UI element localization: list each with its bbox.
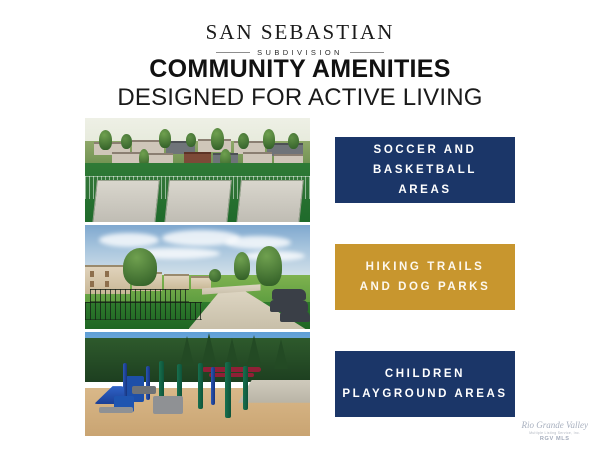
tree <box>211 128 224 150</box>
conifer-tree <box>247 335 261 365</box>
page-title: COMMUNITY AMENITIES DESIGNED FOR ACTIVE … <box>0 56 600 110</box>
amenity-label-trails: HIKING TRAILS AND DOG PARKS <box>335 244 515 310</box>
tree <box>121 134 132 149</box>
amenity-row: HIKING TRAILS AND DOG PARKS <box>85 225 515 329</box>
watermark-script-text: Rio Grande Valley <box>522 421 589 430</box>
residence <box>191 276 211 289</box>
conifer-tree <box>180 336 194 366</box>
tree <box>99 130 112 150</box>
tree <box>238 133 249 149</box>
sports-court <box>235 180 303 222</box>
tree <box>186 133 196 147</box>
amenity-label-text: HIKING TRAILS AND DOG PARKS <box>354 257 497 297</box>
amenity-label-sports: SOCCER AND BASKETBALL AREAS <box>335 137 515 203</box>
amenity-row: CHILDREN PLAYGROUND AREAS <box>85 332 515 436</box>
row-spacer <box>310 225 335 329</box>
sports-court <box>91 180 159 222</box>
aerial-subdivision-sports-courts-rendering <box>85 118 310 222</box>
brand-rule-left <box>216 52 250 53</box>
play-post <box>211 367 215 405</box>
window <box>90 281 94 287</box>
amenity-label-playground: CHILDREN PLAYGROUND AREAS <box>335 351 515 417</box>
play-post <box>243 366 248 410</box>
watermark-mls-label: RGV MLS <box>522 436 589 442</box>
play-post <box>225 362 231 418</box>
conifer-tree <box>202 333 216 363</box>
conifer-tree <box>274 339 288 369</box>
play-post <box>198 363 203 409</box>
play-post <box>146 366 150 400</box>
window <box>105 281 109 287</box>
car <box>272 289 306 300</box>
amenity-label-text: CHILDREN PLAYGROUND AREAS <box>336 364 513 404</box>
amenity-list: SOCCER AND BASKETBALL AREAS <box>85 118 515 436</box>
brand-name: SAN SEBASTIAN <box>0 22 600 43</box>
tree <box>256 246 282 286</box>
row-spacer <box>310 332 335 436</box>
amenity-row: SOCCER AND BASKETBALL AREAS <box>85 118 515 222</box>
tree <box>288 133 299 149</box>
brand-logo: SAN SEBASTIAN SUBDIVISION <box>0 22 600 57</box>
tree <box>234 252 250 280</box>
watermark-subtitle: Multiple Listing Service, Inc. <box>522 431 589 435</box>
safety-mat <box>132 386 156 394</box>
walkway <box>238 380 310 403</box>
headline-secondary: DESIGNED FOR ACTIVE LIVING <box>0 85 600 111</box>
row-spacer <box>310 118 335 222</box>
window <box>105 271 109 277</box>
car <box>270 300 308 312</box>
childrens-playground-photo <box>85 332 310 436</box>
car <box>280 311 310 322</box>
headline-primary: COMMUNITY AMENITIES <box>0 56 600 83</box>
amenities-flyer: { "brand": { "name": "SAN SEBASTIAN", "s… <box>0 0 600 450</box>
residence <box>164 274 189 291</box>
dog-park-fence <box>85 302 202 320</box>
tree <box>263 129 275 149</box>
amenity-label-text: SOCCER AND BASKETBALL AREAS <box>367 140 483 200</box>
tree <box>209 269 221 282</box>
rgv-mls-watermark: Rio Grande Valley Multiple Listing Servi… <box>522 421 589 442</box>
play-base <box>99 407 133 413</box>
dog-park-fence <box>90 289 189 302</box>
tree <box>159 129 171 148</box>
sports-court <box>163 180 231 222</box>
tree <box>123 248 157 286</box>
brand-rule-right <box>350 52 384 53</box>
safety-mat <box>153 396 183 414</box>
window <box>90 271 94 277</box>
park-trails-dog-park-rendering <box>85 225 310 329</box>
